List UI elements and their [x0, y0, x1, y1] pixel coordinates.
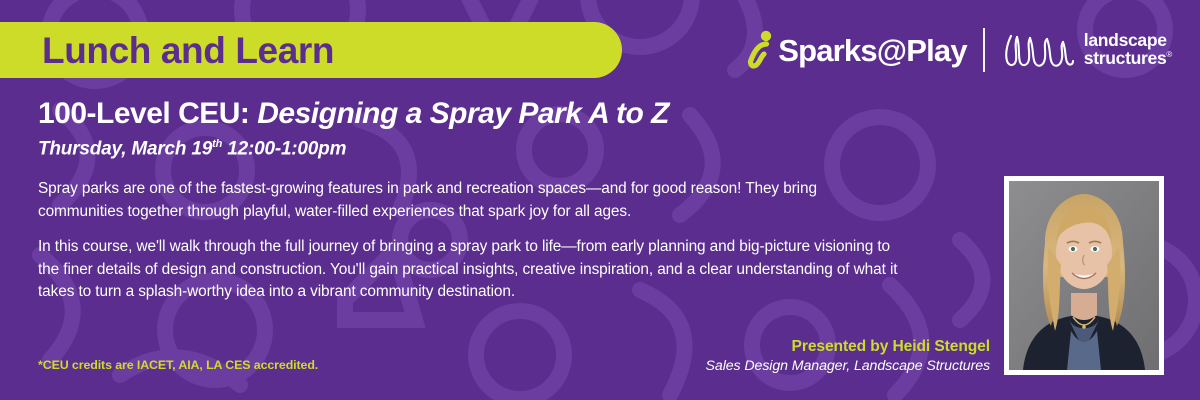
vertical-divider-icon [983, 28, 985, 72]
trademark-symbol: ® [1166, 50, 1172, 59]
brand-line-structures: structures® [1084, 50, 1172, 68]
description-paragraph-2: In this course, we'll walk through the f… [38, 236, 898, 304]
lunch-and-learn-banner: Lunch and Learn Sparks@Play landscape st… [0, 0, 1200, 400]
presenter-credit: Presented by Heidi Stengel Sales Design … [706, 336, 990, 376]
course-title-prefix: 100-Level CEU: [38, 97, 257, 130]
sparks-at-play-wordmark: Sparks@Play [778, 35, 967, 66]
brand-logo-lockup: Sparks@Play landscape structures® [746, 26, 1172, 74]
presenter-headshot-photo [1009, 181, 1159, 370]
course-title: 100-Level CEU: Designing a Spray Park A … [38, 97, 669, 130]
presenter-role: Sales Design Manager, Landscape Structur… [706, 357, 990, 376]
presenter-name: Presented by Heidi Stengel [706, 336, 990, 357]
accreditation-footnote: *CEU credits are IACET, AIA, LA CES accr… [38, 358, 318, 372]
sparks-figure-icon [746, 29, 776, 71]
event-datetime: Thursday, March 19th 12:00-1:00pm [38, 138, 346, 160]
tag-label: Lunch and Learn [42, 32, 334, 69]
landscape-structures-script-icon [1001, 28, 1077, 72]
event-time: 12:00-1:00pm [222, 138, 346, 159]
event-date-prefix: Thursday, March 19 [38, 138, 212, 159]
course-title-emphasis: Designing a Spray Park A to Z [257, 97, 669, 130]
lunch-and-learn-tag: Lunch and Learn [0, 22, 622, 78]
description-paragraph-1: Spray parks are one of the fastest-growi… [38, 178, 898, 223]
date-ordinal-suffix: th [212, 138, 222, 150]
landscape-structures-wordmark: landscape structures® [1084, 32, 1172, 68]
presenter-photo-frame [1004, 176, 1164, 375]
